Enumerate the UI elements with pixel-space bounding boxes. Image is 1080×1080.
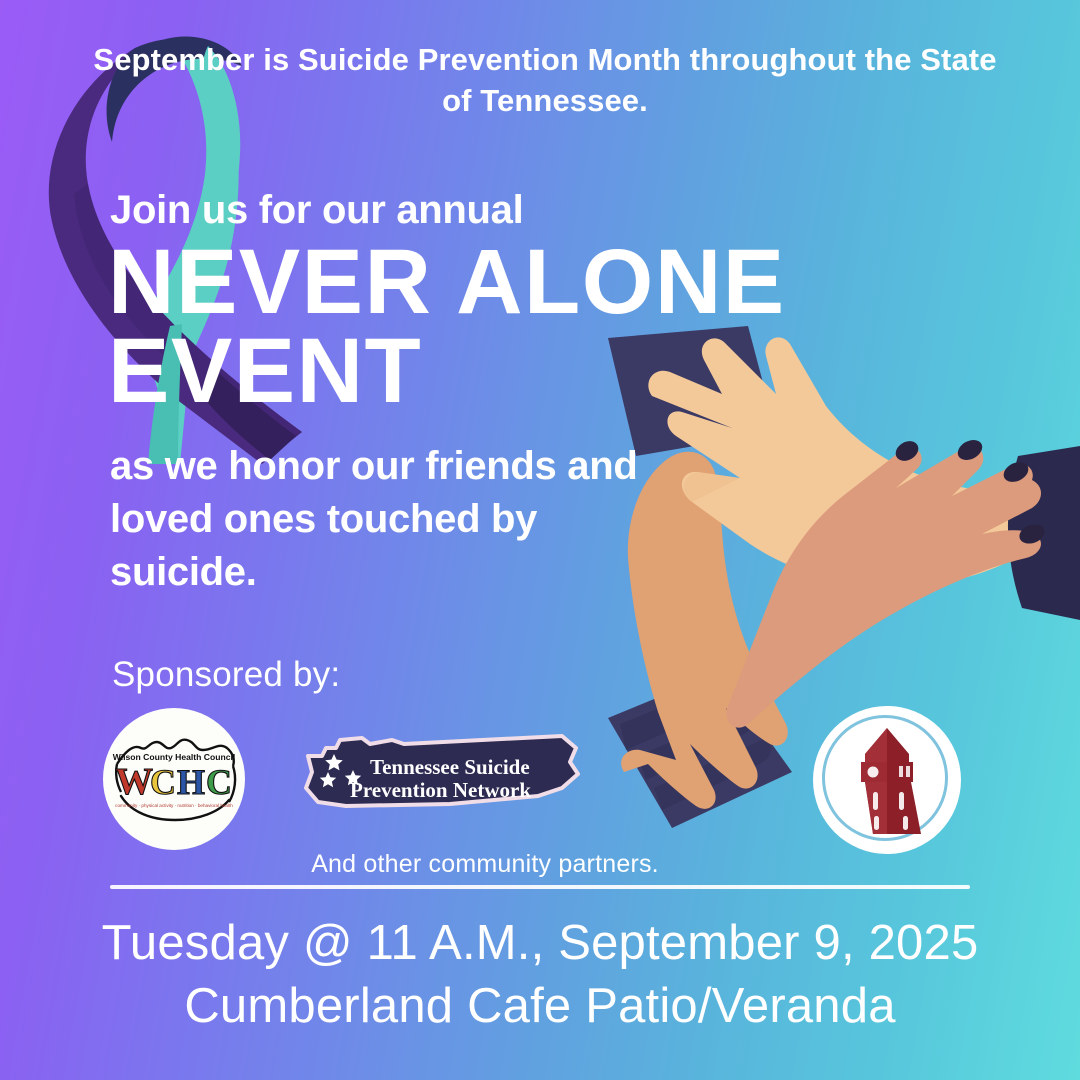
sponsored-by-label: Sponsored by: xyxy=(112,655,340,695)
logo-cumberland-university xyxy=(813,706,961,854)
clock-tower-icon xyxy=(813,706,961,854)
svg-text:H: H xyxy=(177,762,205,802)
logo-tennessee-suicide-prevention-network: Tennessee Suicide Prevention Network xyxy=(300,726,583,814)
logo-wilson-county-health-council: Wilson County Health Council W C H C com… xyxy=(103,708,245,850)
other-partners-note: And other community partners. xyxy=(90,850,880,879)
svg-text:W: W xyxy=(115,761,153,803)
event-headline: NEVER ALONE EVENT xyxy=(108,238,786,416)
poster-canvas: September is Suicide Prevention Month th… xyxy=(0,0,1080,1080)
svg-text:Tennessee Suicide: Tennessee Suicide xyxy=(370,755,530,779)
section-divider xyxy=(110,885,970,889)
svg-text:Prevention Network: Prevention Network xyxy=(350,778,531,802)
event-details: Tuesday @ 11 A.M., September 9, 2025 Cum… xyxy=(60,912,1020,1037)
event-subcopy: as we honor our friends and loved ones t… xyxy=(110,440,640,600)
awareness-month-statement: September is Suicide Prevention Month th… xyxy=(90,40,1000,122)
svg-text:C: C xyxy=(150,762,176,802)
svg-text:community · physical activity: community · physical activity · nutritio… xyxy=(115,803,233,808)
wchc-logo-icon: Wilson County Health Council W C H C com… xyxy=(103,708,245,850)
event-kicker: Join us for our annual xyxy=(110,188,523,233)
svg-text:C: C xyxy=(206,762,232,802)
tspn-logo-icon: Tennessee Suicide Prevention Network xyxy=(300,726,583,814)
